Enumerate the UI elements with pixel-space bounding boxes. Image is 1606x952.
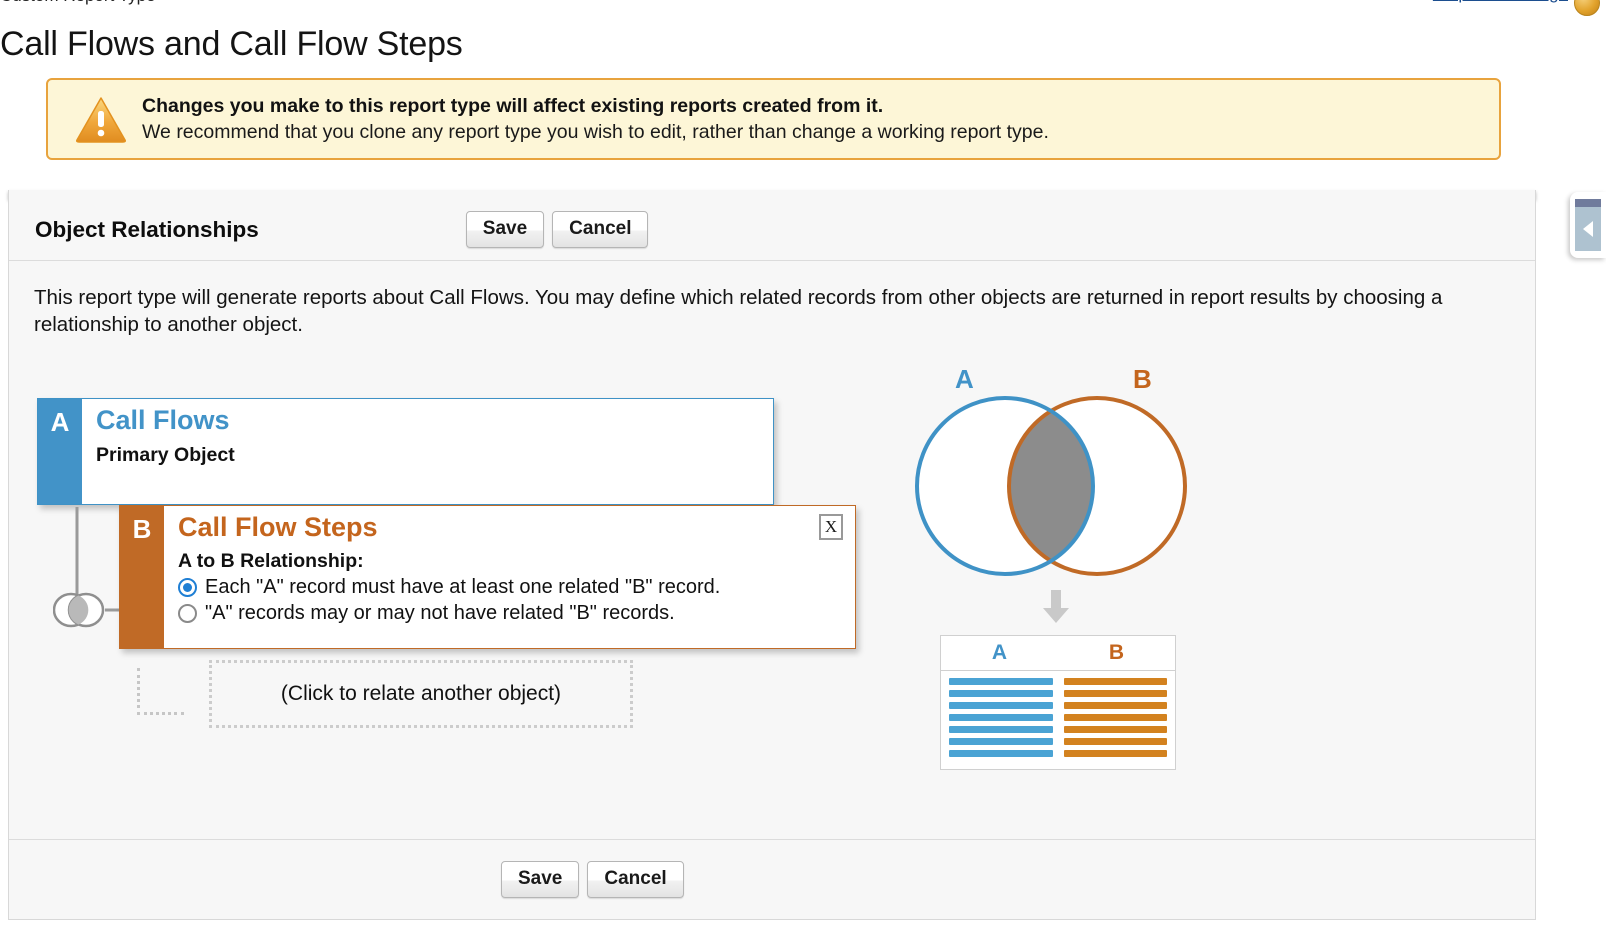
footer-button-group: Save Cancel — [501, 861, 684, 899]
object-a-letter: A — [38, 399, 82, 504]
warning-headline: Changes you make to this report type wil… — [142, 93, 1049, 119]
object-relationships-panel: Object Relationships Save Cancel This re… — [8, 190, 1536, 920]
down-arrow-icon — [1041, 590, 1071, 624]
preview-bar-a — [949, 678, 1053, 685]
panel-title: Object Relationships — [35, 217, 259, 243]
relationship-option-label-1: Each "A" record must have at least one r… — [205, 576, 720, 599]
drop-connector-dots — [137, 668, 184, 715]
venn-label-b: B — [1133, 364, 1152, 395]
object-a-name: Call Flows — [96, 405, 235, 436]
cancel-button-top[interactable]: Cancel — [552, 211, 648, 249]
preview-bar-b — [1064, 690, 1168, 697]
save-button-bottom[interactable]: Save — [501, 861, 579, 899]
preview-col-a-bars — [949, 678, 1053, 762]
warning-triangle-icon — [72, 96, 130, 143]
relationship-option-row-2[interactable]: "A" records may or may not have related … — [178, 602, 855, 625]
page-root: Custom Report Type Help for this Page Ca… — [0, 0, 1606, 952]
object-box-b[interactable]: B X Call Flow Steps A to B Relationship:… — [119, 505, 856, 649]
panel-description: This report type will generate reports a… — [34, 284, 1494, 338]
relationship-option-row-1[interactable]: Each "A" record must have at least one r… — [178, 576, 855, 599]
object-b-letter: B — [120, 506, 164, 648]
page-title: Call Flows and Call Flow Steps — [0, 25, 463, 64]
preview-bar-b — [1064, 702, 1168, 709]
preview-bar-b — [1064, 678, 1168, 685]
preview-bar-a — [949, 738, 1053, 745]
cancel-button-bottom[interactable]: Cancel — [587, 861, 683, 899]
venn-diagram: A B — [909, 358, 1209, 588]
preview-bar-b — [1064, 738, 1168, 745]
preview-bar-a — [949, 690, 1053, 697]
preview-bar-a — [949, 702, 1053, 709]
preview-bar-a — [949, 714, 1053, 721]
preview-col-b-bars — [1064, 678, 1168, 762]
object-box-a[interactable]: A Call Flows Primary Object — [37, 398, 774, 505]
warning-banner: Changes you make to this report type wil… — [46, 78, 1501, 160]
save-button-top[interactable]: Save — [466, 211, 544, 249]
venn-label-a: A — [955, 364, 974, 395]
remove-object-b-button[interactable]: X — [819, 514, 843, 540]
relationship-radio-required[interactable] — [178, 578, 197, 597]
relationship-canvas: A Call Flows Primary Object B — [9, 350, 1535, 830]
breadcrumb: Custom Report Type — [0, 0, 156, 6]
preview-table-body — [941, 671, 1175, 769]
preview-col-b-header: B — [1058, 636, 1175, 670]
preview-bar-b — [1064, 726, 1168, 733]
preview-bar-b — [1064, 714, 1168, 721]
panel-footer: Save Cancel — [9, 839, 1535, 919]
preview-table-header: A B — [941, 636, 1175, 671]
preview-bar-a — [949, 750, 1053, 757]
report-preview-table: A B — [940, 635, 1176, 770]
object-b-name: Call Flow Steps — [178, 512, 855, 543]
header-button-group: Save Cancel — [466, 211, 649, 249]
add-related-object-dropzone[interactable]: (Click to relate another object) — [209, 660, 633, 728]
a-to-b-relationship-label: A to B Relationship: — [178, 550, 855, 573]
panel-header: Object Relationships Save Cancel — [9, 199, 1535, 261]
help-for-this-page-link[interactable]: Help for this Page — [1433, 0, 1568, 4]
preview-col-a-header: A — [941, 636, 1058, 670]
relationship-option-label-2: "A" records may or may not have related … — [205, 602, 675, 625]
relationship-radio-optional[interactable] — [178, 604, 197, 623]
help-circle-icon[interactable] — [1574, 0, 1600, 16]
preview-bar-b — [1064, 750, 1168, 757]
object-a-subtitle: Primary Object — [96, 444, 235, 467]
warning-detail: We recommend that you clone any report t… — [142, 119, 1049, 145]
preview-bar-a — [949, 726, 1053, 733]
chevron-left-icon — [1575, 199, 1601, 251]
sidebar-toggle-button[interactable] — [1570, 192, 1606, 258]
